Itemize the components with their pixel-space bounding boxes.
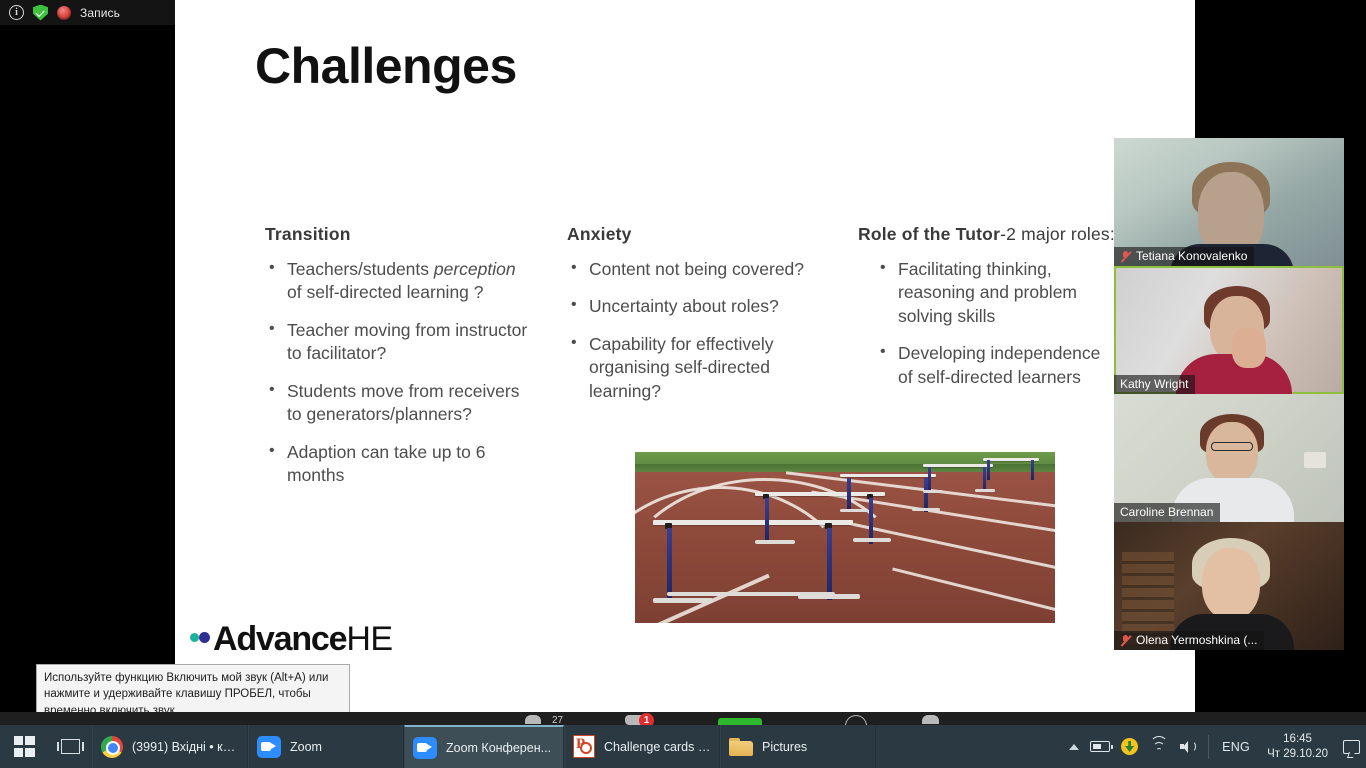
taskbar-item-powerpoint[interactable]: Challenge cards G... bbox=[564, 725, 720, 768]
participant-name: Kathy Wright bbox=[1120, 377, 1188, 391]
hurdles-photo bbox=[635, 452, 1055, 623]
participant-name: Caroline Brennan bbox=[1120, 505, 1213, 519]
powerpoint-icon bbox=[573, 735, 595, 758]
tray-divider bbox=[1208, 735, 1209, 759]
chrome-icon bbox=[101, 736, 123, 758]
list-item: Facilitating thinking, reasoning and pro… bbox=[876, 258, 1116, 328]
clock-date: Чт 29.10.20 bbox=[1267, 747, 1328, 762]
zoom-icon bbox=[413, 737, 437, 759]
taskbar-item-zoom-meeting[interactable]: Zoom Конферен... bbox=[404, 725, 564, 768]
taskbar-item-label: (3991) Вхідні • ко... bbox=[132, 740, 239, 754]
mic-muted-icon bbox=[1120, 634, 1131, 646]
video-tile[interactable]: Kathy Wright bbox=[1114, 266, 1344, 394]
participant-name-badge: Caroline Brennan bbox=[1114, 503, 1220, 522]
add-participant-button[interactable] bbox=[922, 715, 939, 724]
wifi-icon[interactable] bbox=[1149, 740, 1168, 754]
logo-advance-text: Advance bbox=[213, 620, 346, 659]
mic-muted-icon bbox=[1120, 250, 1131, 262]
video-thumbnail-strip: Tetiana Konovalenko Kathy Wright Carolin… bbox=[1114, 138, 1344, 650]
language-indicator[interactable]: ENG bbox=[1220, 740, 1252, 754]
notification-icon[interactable] bbox=[1343, 740, 1360, 754]
taskbar-item-label: Challenge cards G... bbox=[604, 740, 711, 754]
hurdle bbox=[983, 458, 1039, 480]
participant-name-badge: Olena Yermoshkina (... bbox=[1114, 631, 1264, 650]
mute-tooltip: Используйте функцию Включить мой звук (A… bbox=[36, 664, 350, 716]
bullet-list: Facilitating thinking, reasoning and pro… bbox=[876, 258, 1116, 389]
video-tile[interactable]: Caroline Brennan bbox=[1114, 394, 1344, 522]
volume-icon[interactable] bbox=[1179, 739, 1197, 754]
video-tile[interactable]: Olena Yermoshkina (... bbox=[1114, 522, 1344, 650]
bullet-list: Teachers/students perception of self-dir… bbox=[265, 258, 530, 488]
taskbar-item-label: Zoom bbox=[290, 740, 322, 754]
participant-name: Tetiana Konovalenko bbox=[1136, 249, 1247, 263]
folder-icon bbox=[729, 737, 753, 756]
zoom-icon bbox=[257, 736, 281, 758]
column-heading-regular: -2 major roles: bbox=[1000, 224, 1115, 244]
list-item: Uncertainty about roles? bbox=[567, 295, 829, 318]
desktop-screen: i Запись Вы просматриваете экран Kathy W… bbox=[0, 0, 1366, 768]
bullet-text-italic: perception bbox=[434, 259, 516, 279]
bullet-list: Content not being covered? Uncertainty a… bbox=[567, 258, 829, 403]
recording-label: Запись bbox=[80, 6, 120, 20]
column-heading: Transition bbox=[265, 224, 530, 245]
taskbar-item-label: Pictures bbox=[762, 740, 807, 754]
task-view-button[interactable] bbox=[48, 725, 92, 768]
column-heading: Role of the Tutor-2 major roles: bbox=[858, 224, 1116, 245]
clock[interactable]: 16:45 Чт 29.10.20 bbox=[1263, 732, 1332, 761]
info-icon[interactable]: i bbox=[9, 5, 24, 20]
page-title: Challenges bbox=[255, 37, 517, 95]
battery-icon[interactable] bbox=[1090, 741, 1110, 752]
slide-column-role-of-tutor: Role of the Tutor-2 major roles: Facilit… bbox=[858, 224, 1116, 403]
start-button[interactable] bbox=[0, 725, 48, 768]
system-tray: ENG 16:45 Чт 29.10.20 bbox=[1069, 725, 1366, 768]
list-item: Capability for effectively organising se… bbox=[567, 333, 829, 403]
zoom-status-bar: i Запись bbox=[0, 0, 175, 25]
advance-he-logo: Advance HE bbox=[190, 620, 393, 659]
logo-dots-icon bbox=[190, 633, 212, 647]
windows-logo-icon bbox=[14, 736, 35, 757]
chat-button[interactable]: 1 bbox=[625, 715, 645, 725]
list-item: Teachers/students perception of self-dir… bbox=[265, 258, 530, 305]
participant-name: Olena Yermoshkina (... bbox=[1136, 633, 1257, 647]
taskbar-item-label: Zoom Конферен... bbox=[446, 741, 551, 755]
taskbar-item-zoom[interactable]: Zoom bbox=[248, 725, 404, 768]
participant-name-badge: Kathy Wright bbox=[1114, 375, 1195, 394]
hurdle bbox=[840, 474, 936, 512]
participants-button[interactable] bbox=[525, 715, 541, 724]
column-heading: Anxiety bbox=[567, 224, 829, 245]
bullet-text-pre: Teachers/students bbox=[287, 259, 434, 279]
video-tile[interactable]: Tetiana Konovalenko bbox=[1114, 138, 1344, 266]
record-dot-icon[interactable] bbox=[57, 6, 71, 20]
taskbar: (3991) Вхідні • ко... Zoom Zoom Конферен… bbox=[0, 725, 1366, 768]
shared-slide: Challenges Transition Teachers/students … bbox=[175, 0, 1195, 723]
participant-name-badge: Tetiana Konovalenko bbox=[1114, 247, 1254, 266]
clock-time: 16:45 bbox=[1267, 732, 1328, 747]
column-heading-bold: Role of the Tutor bbox=[858, 224, 1000, 244]
chevron-up-icon[interactable] bbox=[1069, 744, 1079, 750]
slide-column-transition: Transition Teachers/students perception … bbox=[265, 224, 530, 502]
list-item: Adaption can take up to 6 months bbox=[265, 441, 530, 488]
task-view-icon bbox=[61, 739, 80, 754]
taskbar-item-pictures[interactable]: Pictures bbox=[720, 725, 876, 768]
list-item: Content not being covered? bbox=[567, 258, 829, 281]
slide-column-anxiety: Anxiety Content not being covered? Uncer… bbox=[567, 224, 829, 417]
logo-he-text: HE bbox=[346, 620, 392, 659]
shield-icon[interactable] bbox=[33, 5, 48, 21]
taskbar-item-chrome[interactable]: (3991) Вхідні • ко... bbox=[92, 725, 248, 768]
list-item: Developing independence of self-directed… bbox=[876, 342, 1116, 389]
update-icon[interactable] bbox=[1121, 738, 1138, 755]
bullet-text-post: of self-directed learning ? bbox=[287, 282, 484, 302]
list-item: Students move from receivers to generato… bbox=[265, 380, 530, 427]
list-item: Teacher moving from instructor to facili… bbox=[265, 319, 530, 366]
